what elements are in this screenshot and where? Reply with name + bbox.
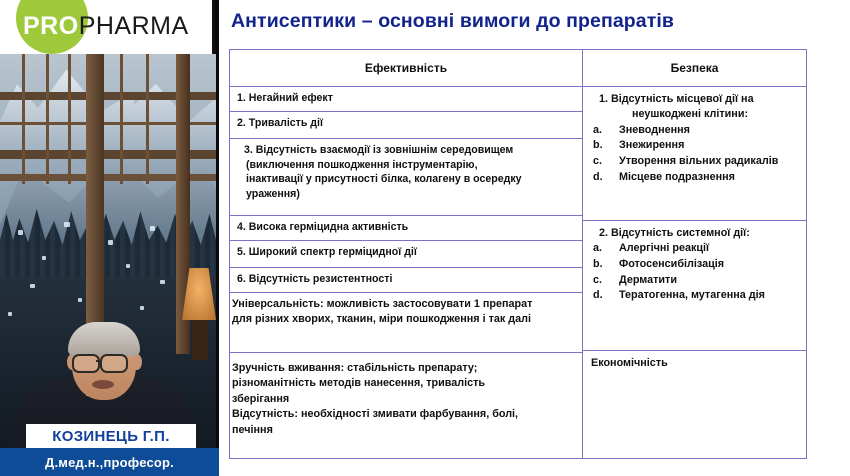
logo-pro-text: PRO — [23, 12, 79, 40]
table-row-safety-group-1: 1. Відсутність місцевої дії на неушкодже… — [583, 87, 806, 221]
list-item-label: Знежирення — [619, 138, 802, 154]
table-row-line: інактивації у присутності білка, колаген… — [237, 172, 576, 187]
group-title: 2. Відсутність системної дії: — [591, 226, 802, 241]
table-row: 2. Тривалість дії — [230, 112, 582, 139]
group-title-line2: неушкоджені клітини: — [611, 107, 802, 122]
list-item: b. Фотосенсибілізація — [591, 257, 802, 273]
list-item-letter: a. — [593, 241, 619, 257]
list-item-letter: b. — [593, 257, 619, 273]
speaker-mouth — [92, 380, 114, 389]
video-panel: КОЗИНЕЦЬ Г.П. Д.мед.н.,професор. PROPHAR… — [0, 0, 219, 476]
logo-wordmark: PROPHARMA — [23, 12, 189, 41]
snow-fleck — [64, 222, 70, 227]
glasses-icon — [72, 354, 100, 373]
table-row-line: печіння — [232, 423, 576, 438]
table-row-line: для різних хворих, тканин, міри пошкодже… — [232, 312, 576, 327]
list-item-letter: c. — [593, 273, 619, 289]
snow-fleck — [108, 240, 113, 245]
list-item: d. Місцеве подразнення — [591, 170, 802, 186]
video-background-window-scene — [0, 54, 216, 476]
window-mullion — [22, 54, 25, 184]
snow-fleck — [160, 280, 165, 284]
list-item: d. Тератогенна, мутагенна дія — [591, 288, 802, 304]
snow-fleck — [78, 298, 82, 302]
snow-fleck — [18, 230, 23, 235]
list-item-label: Зневоднення — [619, 123, 802, 139]
slide-area: Антисептики – основні вимоги до препарат… — [219, 0, 850, 476]
list-item: a. Алергічні реакції — [591, 241, 802, 257]
speaker-name-plate: КОЗИНЕЦЬ Г.П. — [26, 424, 196, 448]
table-row: 6. Відсутність резистентності — [230, 268, 582, 293]
table-row-line: різноманітність методів нанесення, трива… — [232, 376, 576, 391]
list-item-label: Місцеве подразнення — [619, 170, 802, 186]
table-row-line: зберігання — [232, 392, 576, 407]
list-item-label: Фотосенсибілізація — [619, 257, 802, 273]
list-item-label: Алергічні реакції — [619, 241, 802, 257]
slide-title: Антисептики – основні вимоги до препарат… — [231, 10, 841, 33]
table-row: 5. Широкий спектр герміцидної дії — [230, 241, 582, 268]
group-title-line1: 1. Відсутність місцевої дії на — [599, 93, 754, 105]
window-mullion — [146, 54, 149, 184]
list-item-label: Дерматити — [619, 273, 802, 289]
list-item-letter: b. — [593, 138, 619, 154]
snow-fleck — [8, 312, 12, 316]
speaker-role-bar: Д.мед.н.,професор. — [0, 448, 219, 476]
table-row-safety-group-2: 2. Відсутність системної дії: a. Алергіч… — [583, 221, 806, 351]
table-row: 1. Негайний ефект — [230, 87, 582, 112]
list-item-label: Утворення вільних радикалів — [619, 154, 802, 170]
glasses-bridge — [96, 360, 102, 362]
table-row-line: ураження) — [237, 187, 576, 202]
speaker-hair — [68, 322, 140, 356]
logo-pharma-text: PHARMA — [79, 12, 189, 40]
table-row-line: Відсутність: необхідності змивати фарбув… — [232, 407, 576, 422]
table-row: 3. Відсутність взаємодії із зовнішнім се… — [230, 139, 582, 216]
glasses-icon — [100, 354, 128, 373]
group-title: 1. Відсутність місцевої дії на неушкодже… — [591, 92, 802, 123]
table-row: Зручність вживання: стабільність препара… — [230, 353, 582, 453]
snow-fleck — [150, 226, 155, 231]
table-column-effectiveness: Ефективність 1. Негайний ефект 2. Тривал… — [230, 50, 583, 458]
table-header-effectiveness: Ефективність — [230, 50, 582, 87]
list-item: c. Дерматити — [591, 273, 802, 289]
list-item-letter: a. — [593, 123, 619, 139]
window-mullion — [68, 54, 71, 184]
table-row-line: Зручність вживання: стабільність препара… — [232, 361, 576, 376]
table-row-line: (виключення пошкодження інструментарію, — [237, 158, 576, 173]
table-row: Універсальність: можливість застосовуват… — [230, 293, 582, 353]
speaker-name: КОЗИНЕЦЬ Г.П. — [52, 428, 169, 445]
list-item: a. Зневоднення — [591, 123, 802, 139]
list-item-letter: d. — [593, 288, 619, 304]
table-column-safety: Безпека 1. Відсутність місцевої дії на н… — [583, 50, 806, 458]
table-row: 4. Висока герміцидна активність — [230, 216, 582, 241]
table-row-economy: Економічність — [583, 351, 806, 377]
list-item-label: Тератогенна, мутагенна дія — [619, 288, 802, 304]
speaker-ear — [132, 354, 142, 370]
window-mullion — [120, 54, 123, 184]
table-row-line: Універсальність: можливість застосовуват… — [232, 297, 576, 312]
lamp-base — [192, 320, 208, 360]
snow-fleck — [126, 264, 130, 268]
snow-fleck — [140, 306, 144, 310]
group-title-line1: 2. Відсутність системної дії: — [599, 227, 750, 239]
list-item-letter: d. — [593, 170, 619, 186]
table-row-line: 3. Відсутність взаємодії із зовнішнім се… — [237, 143, 576, 158]
snow-fleck — [30, 284, 35, 288]
requirements-table: Ефективність 1. Негайний ефект 2. Тривал… — [229, 49, 807, 459]
table-header-safety: Безпека — [583, 50, 806, 87]
list-item: c. Утворення вільних радикалів — [591, 154, 802, 170]
list-item-letter: c. — [593, 154, 619, 170]
snow-fleck — [42, 256, 46, 260]
list-item: b. Знежирення — [591, 138, 802, 154]
logo: PROPHARMA — [0, 0, 215, 54]
speaker-role: Д.мед.н.,професор. — [45, 455, 174, 470]
window-post — [86, 54, 104, 354]
window-mullion — [46, 54, 49, 184]
